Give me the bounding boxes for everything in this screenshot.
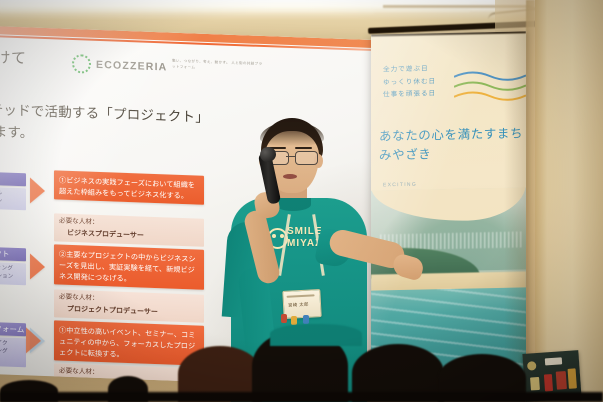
badge-rule-1 <box>287 294 315 297</box>
ecozzeria-logo-icon <box>72 54 91 74</box>
board-item-3 <box>530 377 540 391</box>
callout-2: ②主要なプロジェクトの中からビジネスシーズを見出し、実証実験を経て、新規ビジネス… <box>54 244 204 290</box>
banner-small-lines: 全力で遊ぶ日 ゆっくり休む日 仕事を頑張る日 <box>383 63 469 102</box>
glasses-bridge-icon <box>286 156 296 157</box>
banner-headline-line2: みやざき <box>379 144 526 167</box>
banner-headline-line1: あなたの心を満たすまち <box>379 124 526 147</box>
callout-3: ①中立性の高いイベント、セミナー、コミュニティの中から、フォーカスしたプロジェク… <box>54 320 204 366</box>
board-item-6 <box>568 368 577 389</box>
ecozzeria-tagline: 集い、つながり、考え、動かす。 人と街の共創プラットフォーム <box>172 59 264 73</box>
group-body-business: ビジネスモデル 思考的デザイン <box>0 186 26 210</box>
group-body-project: チームビルディング ファシリテーション <box>0 261 26 285</box>
audience-shoulder-teal <box>270 324 362 346</box>
slide-group-platform: プラットフォーム コンセプトメイク ネットワーキング 広報活動 <box>0 321 26 368</box>
banner-line-3: 仕事を頑張る日 <box>383 88 469 102</box>
slide-subtitle-line2: ıします。 <box>0 119 33 141</box>
ceiling-light-secondary <box>0 9 374 14</box>
callout-1: ①ビジネスの実践フェーズにおいて組織を超えた枠組みをもってビジネス化する。 <box>54 170 204 205</box>
badge-charm-2 <box>291 316 297 325</box>
badge-name: 宮崎 太郎 <box>288 302 309 309</box>
ecozzeria-logo: ECOZZERIA <box>72 54 167 77</box>
arrow-icon-3 <box>26 327 41 354</box>
need-role-2: 必要な人材： プロジェクトプロデューサー <box>54 289 204 322</box>
group-header-project: プロジェクト <box>0 246 26 261</box>
need-label-1: 必要な人材： <box>59 218 99 226</box>
name-badge: 宮崎 太郎 <box>282 289 321 319</box>
speaker-fringe <box>260 122 324 146</box>
slide-group-project: プロジェクト チームビルディング ファシリテーション <box>0 246 26 285</box>
audience-foreground-band <box>0 392 603 402</box>
board-item-5 <box>556 371 567 390</box>
group-header-platform: プラットフォーム <box>0 321 26 336</box>
need-label-3: 必要な人材： <box>59 368 99 376</box>
badge-charm-3 <box>303 315 309 324</box>
board-item-1 <box>527 361 537 371</box>
arrow-icon-2 <box>30 253 45 280</box>
board-item-4 <box>544 374 553 392</box>
photo-scene: 向けて ECOZZERIA 集い、つながり、考え、動かす。 人と街の共創プラット… <box>0 0 603 402</box>
slide-title: 向けて <box>0 46 27 69</box>
ecozzeria-logo-text: ECOZZERIA <box>96 58 167 73</box>
banner-headline: あなたの心を満たすまち みやざき <box>379 124 526 166</box>
need-role-text-1: ビジネスプロデューサー <box>59 227 199 243</box>
group-header-business: ビジネス <box>0 171 26 186</box>
need-label-2: 必要な人材： <box>59 294 99 302</box>
speaker-collar <box>275 198 311 211</box>
glasses-lens-right-icon <box>295 151 318 165</box>
board-item-2 <box>545 357 562 365</box>
arrow-icon-1 <box>30 177 45 204</box>
rollup-banner: 全力で遊ぶ日 ゆっくり休む日 仕事を頑張る日 あなたの心を満たすまち みやざき … <box>371 31 526 386</box>
speaker-mouth <box>283 174 297 179</box>
slide-group-business: ビジネス ビジネスモデル 思考的デザイン <box>0 171 26 210</box>
wall-pillar <box>535 0 603 402</box>
need-role-1: 必要な人材： ビジネスプロデューサー <box>54 213 204 246</box>
pillar-edge <box>526 0 535 402</box>
badge-charm-1 <box>281 314 287 323</box>
need-role-text-2: プロジェクトプロデューサー <box>59 303 199 319</box>
group-body-platform: コンセプトメイク ネットワーキング 広報活動 <box>0 336 26 368</box>
